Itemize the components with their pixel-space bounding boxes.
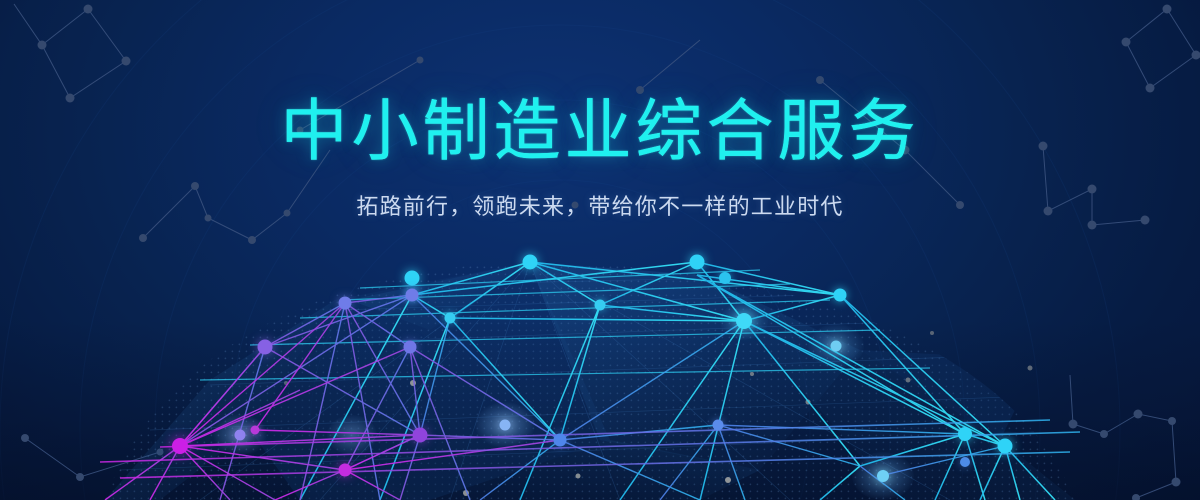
network-node xyxy=(736,313,752,329)
network-node xyxy=(595,300,606,311)
network-node xyxy=(960,457,970,467)
network-node xyxy=(998,439,1013,454)
network-node xyxy=(405,271,420,286)
network-node xyxy=(251,426,260,435)
network-node xyxy=(339,297,352,310)
hero-banner: 中小制造业综合服务 拓路前行，领跑未来，带给你不一样的工业时代 xyxy=(0,0,1200,500)
network-node xyxy=(235,430,246,441)
network-node xyxy=(413,428,428,443)
network-node xyxy=(877,470,889,482)
network-node xyxy=(172,438,188,454)
network-node xyxy=(713,420,724,431)
network-node xyxy=(404,341,417,354)
hero-text-block: 中小制造业综合服务 拓路前行，领跑未来，带给你不一样的工业时代 xyxy=(0,95,1200,221)
page-title: 中小制造业综合服务 xyxy=(0,95,1200,167)
network-node xyxy=(831,341,842,352)
network-node xyxy=(690,255,705,270)
network-node xyxy=(258,340,273,355)
network-node xyxy=(339,464,352,477)
network-node xyxy=(500,420,511,431)
network-node xyxy=(958,427,972,441)
page-subtitle: 拓路前行，领跑未来，带给你不一样的工业时代 xyxy=(0,189,1200,221)
network-node xyxy=(834,289,847,302)
dome-network-edges xyxy=(0,0,1200,500)
network-node xyxy=(719,272,731,284)
network-node xyxy=(523,255,538,270)
network-node xyxy=(554,434,567,447)
network-node xyxy=(406,289,419,302)
network-node xyxy=(445,313,456,324)
